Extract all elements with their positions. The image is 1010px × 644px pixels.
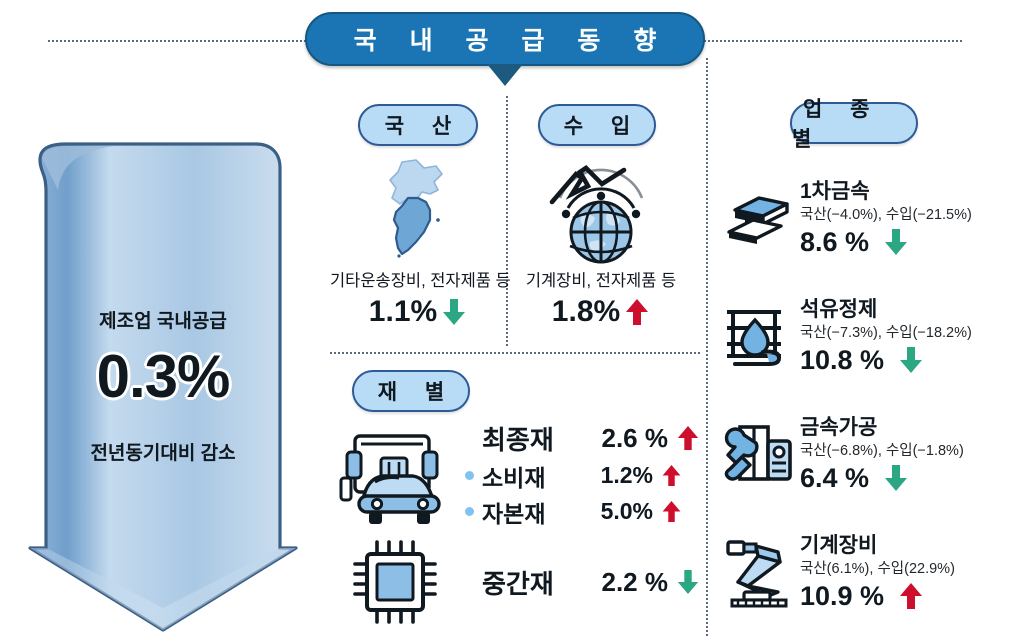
industry-detail-petroleum: 국산(−7.3%), 수입(−18.2%) bbox=[800, 323, 1010, 344]
wrench-machine-icon bbox=[716, 421, 800, 489]
goods-line-final: 최종재 2.6 % bbox=[465, 420, 700, 457]
goods-name-capital: 자본재 bbox=[482, 495, 577, 529]
bullet-icon bbox=[465, 471, 474, 480]
industry-value-row-machinery: 10.9 % bbox=[800, 581, 1010, 612]
section-pill-import: 수 입 bbox=[538, 104, 656, 146]
title-notch-icon bbox=[487, 64, 523, 86]
source-value-row-import: 1.8% bbox=[510, 295, 692, 329]
divider-horizontal bbox=[330, 352, 700, 354]
source-block-domestic: 기타운송장비, 전자제품 등 1.1% bbox=[330, 155, 506, 329]
source-value-import: 1.8% bbox=[552, 295, 620, 329]
industry-item-petroleum: 석유정제 국산(−7.3%), 수입(−18.2%) 10.8 % bbox=[716, 278, 1010, 396]
industry-detail-machinery: 국산(6.1%), 수입(22.9%) bbox=[800, 559, 1010, 580]
industry-value-petroleum: 10.8 % bbox=[800, 345, 884, 376]
page-title: 국 내 공 급 동 향 bbox=[305, 12, 705, 66]
truck-car-icon bbox=[330, 422, 465, 526]
up-arrow-icon bbox=[676, 424, 700, 452]
microchip-icon bbox=[330, 534, 465, 630]
source-value-domestic: 1.1% bbox=[369, 295, 437, 329]
goods-name-consumer: 소비재 bbox=[482, 459, 577, 493]
industry-section: 1차금속 국산(−4.0%), 수입(−21.5%) 8.6 % bbox=[716, 160, 1010, 632]
title-rail-right bbox=[700, 40, 962, 42]
divider-vertical-right bbox=[706, 58, 708, 636]
industry-value-row-petroleum: 10.8 % bbox=[800, 345, 1010, 376]
up-arrow-icon bbox=[661, 499, 682, 524]
source-value-row-domestic: 1.1% bbox=[330, 295, 506, 329]
summary-arrow-shape bbox=[18, 138, 308, 638]
goods-value-consumer: 1.2% bbox=[577, 462, 653, 489]
industry-name-fabricated-metal: 금속가공 bbox=[800, 416, 1010, 440]
steel-beam-icon bbox=[716, 188, 800, 250]
goods-group-intermediate: 중간재 2.2 % bbox=[330, 528, 700, 636]
goods-group-final: 최종재 2.6 % 소비재 1.2% 자본재 bbox=[330, 420, 700, 528]
industry-body-primary-metal: 1차금속 국산(−4.0%), 수입(−21.5%) 8.6 % bbox=[800, 180, 1010, 257]
section-pill-goods: 재 별 bbox=[352, 370, 470, 412]
down-arrow-icon bbox=[441, 297, 467, 327]
goods-name-intermediate: 중간재 bbox=[482, 564, 586, 601]
down-arrow-icon bbox=[676, 568, 700, 596]
up-arrow-icon bbox=[624, 297, 650, 327]
industry-value-primary-metal: 8.6 % bbox=[800, 227, 869, 258]
globe-airplane-icon bbox=[510, 155, 692, 265]
infographic-root: 국 내 공 급 동 향 bbox=[0, 0, 1010, 644]
title-rail-left bbox=[48, 40, 310, 42]
oil-barrel-icon bbox=[716, 304, 800, 370]
industry-item-machinery: 기계장비 국산(6.1%), 수입(22.9%) 10.9 % bbox=[716, 514, 1010, 632]
industry-value-row-fabricated-metal: 6.4 % bbox=[800, 463, 1010, 494]
goods-value-intermediate: 2.2 % bbox=[586, 567, 668, 598]
down-arrow-icon bbox=[883, 463, 909, 493]
up-arrow-icon bbox=[661, 463, 682, 488]
industry-item-fabricated-metal: 금속가공 국산(−6.8%), 수입(−1.8%) 6.4 % bbox=[716, 396, 1010, 514]
bullet-icon bbox=[465, 507, 474, 516]
section-pill-domestic: 국 산 bbox=[358, 104, 478, 146]
industry-body-machinery: 기계장비 국산(6.1%), 수입(22.9%) 10.9 % bbox=[800, 534, 1010, 611]
goods-line-consumer: 소비재 1.2% bbox=[465, 459, 700, 493]
industry-item-primary-metal: 1차금속 국산(−4.0%), 수입(−21.5%) 8.6 % bbox=[716, 160, 1010, 278]
down-arrow-icon bbox=[898, 345, 924, 375]
goods-value-final: 2.6 % bbox=[586, 423, 668, 454]
source-caption-import: 기계장비, 전자제품 등 bbox=[510, 267, 692, 291]
goods-line-intermediate: 중간재 2.2 % bbox=[465, 564, 700, 601]
industry-detail-fabricated-metal: 국산(−6.8%), 수입(−1.8%) bbox=[800, 441, 1010, 462]
robot-arm-icon bbox=[716, 536, 800, 610]
goods-section: 최종재 2.6 % 소비재 1.2% 자본재 bbox=[330, 420, 700, 636]
industry-body-petroleum: 석유정제 국산(−7.3%), 수입(−18.2%) 10.8 % bbox=[800, 298, 1010, 375]
goods-values-intermediate: 중간재 2.2 % bbox=[465, 562, 700, 603]
source-block-import: 기계장비, 전자제품 등 1.8% bbox=[510, 155, 692, 329]
industry-detail-primary-metal: 국산(−4.0%), 수입(−21.5%) bbox=[800, 205, 1010, 226]
korea-map-icon bbox=[330, 155, 506, 265]
industry-value-row-primary-metal: 8.6 % bbox=[800, 227, 1010, 258]
industry-name-petroleum: 석유정제 bbox=[800, 298, 1010, 322]
industry-value-machinery: 10.9 % bbox=[800, 581, 884, 612]
section-pill-industry: 업 종 별 bbox=[790, 102, 918, 144]
industry-body-fabricated-metal: 금속가공 국산(−6.8%), 수입(−1.8%) 6.4 % bbox=[800, 416, 1010, 493]
industry-value-fabricated-metal: 6.4 % bbox=[800, 463, 869, 494]
divider-vertical-middle bbox=[506, 96, 508, 346]
goods-values-final: 최종재 2.6 % 소비재 1.2% 자본재 bbox=[465, 418, 700, 531]
goods-value-capital: 5.0% bbox=[577, 498, 653, 525]
goods-line-capital: 자본재 5.0% bbox=[465, 495, 700, 529]
up-arrow-icon bbox=[898, 581, 924, 611]
goods-name-final: 최종재 bbox=[482, 420, 586, 457]
down-arrow-icon bbox=[883, 227, 909, 257]
source-caption-domestic: 기타운송장비, 전자제품 등 bbox=[330, 267, 506, 291]
industry-name-primary-metal: 1차금속 bbox=[800, 180, 1010, 204]
industry-name-machinery: 기계장비 bbox=[800, 534, 1010, 558]
